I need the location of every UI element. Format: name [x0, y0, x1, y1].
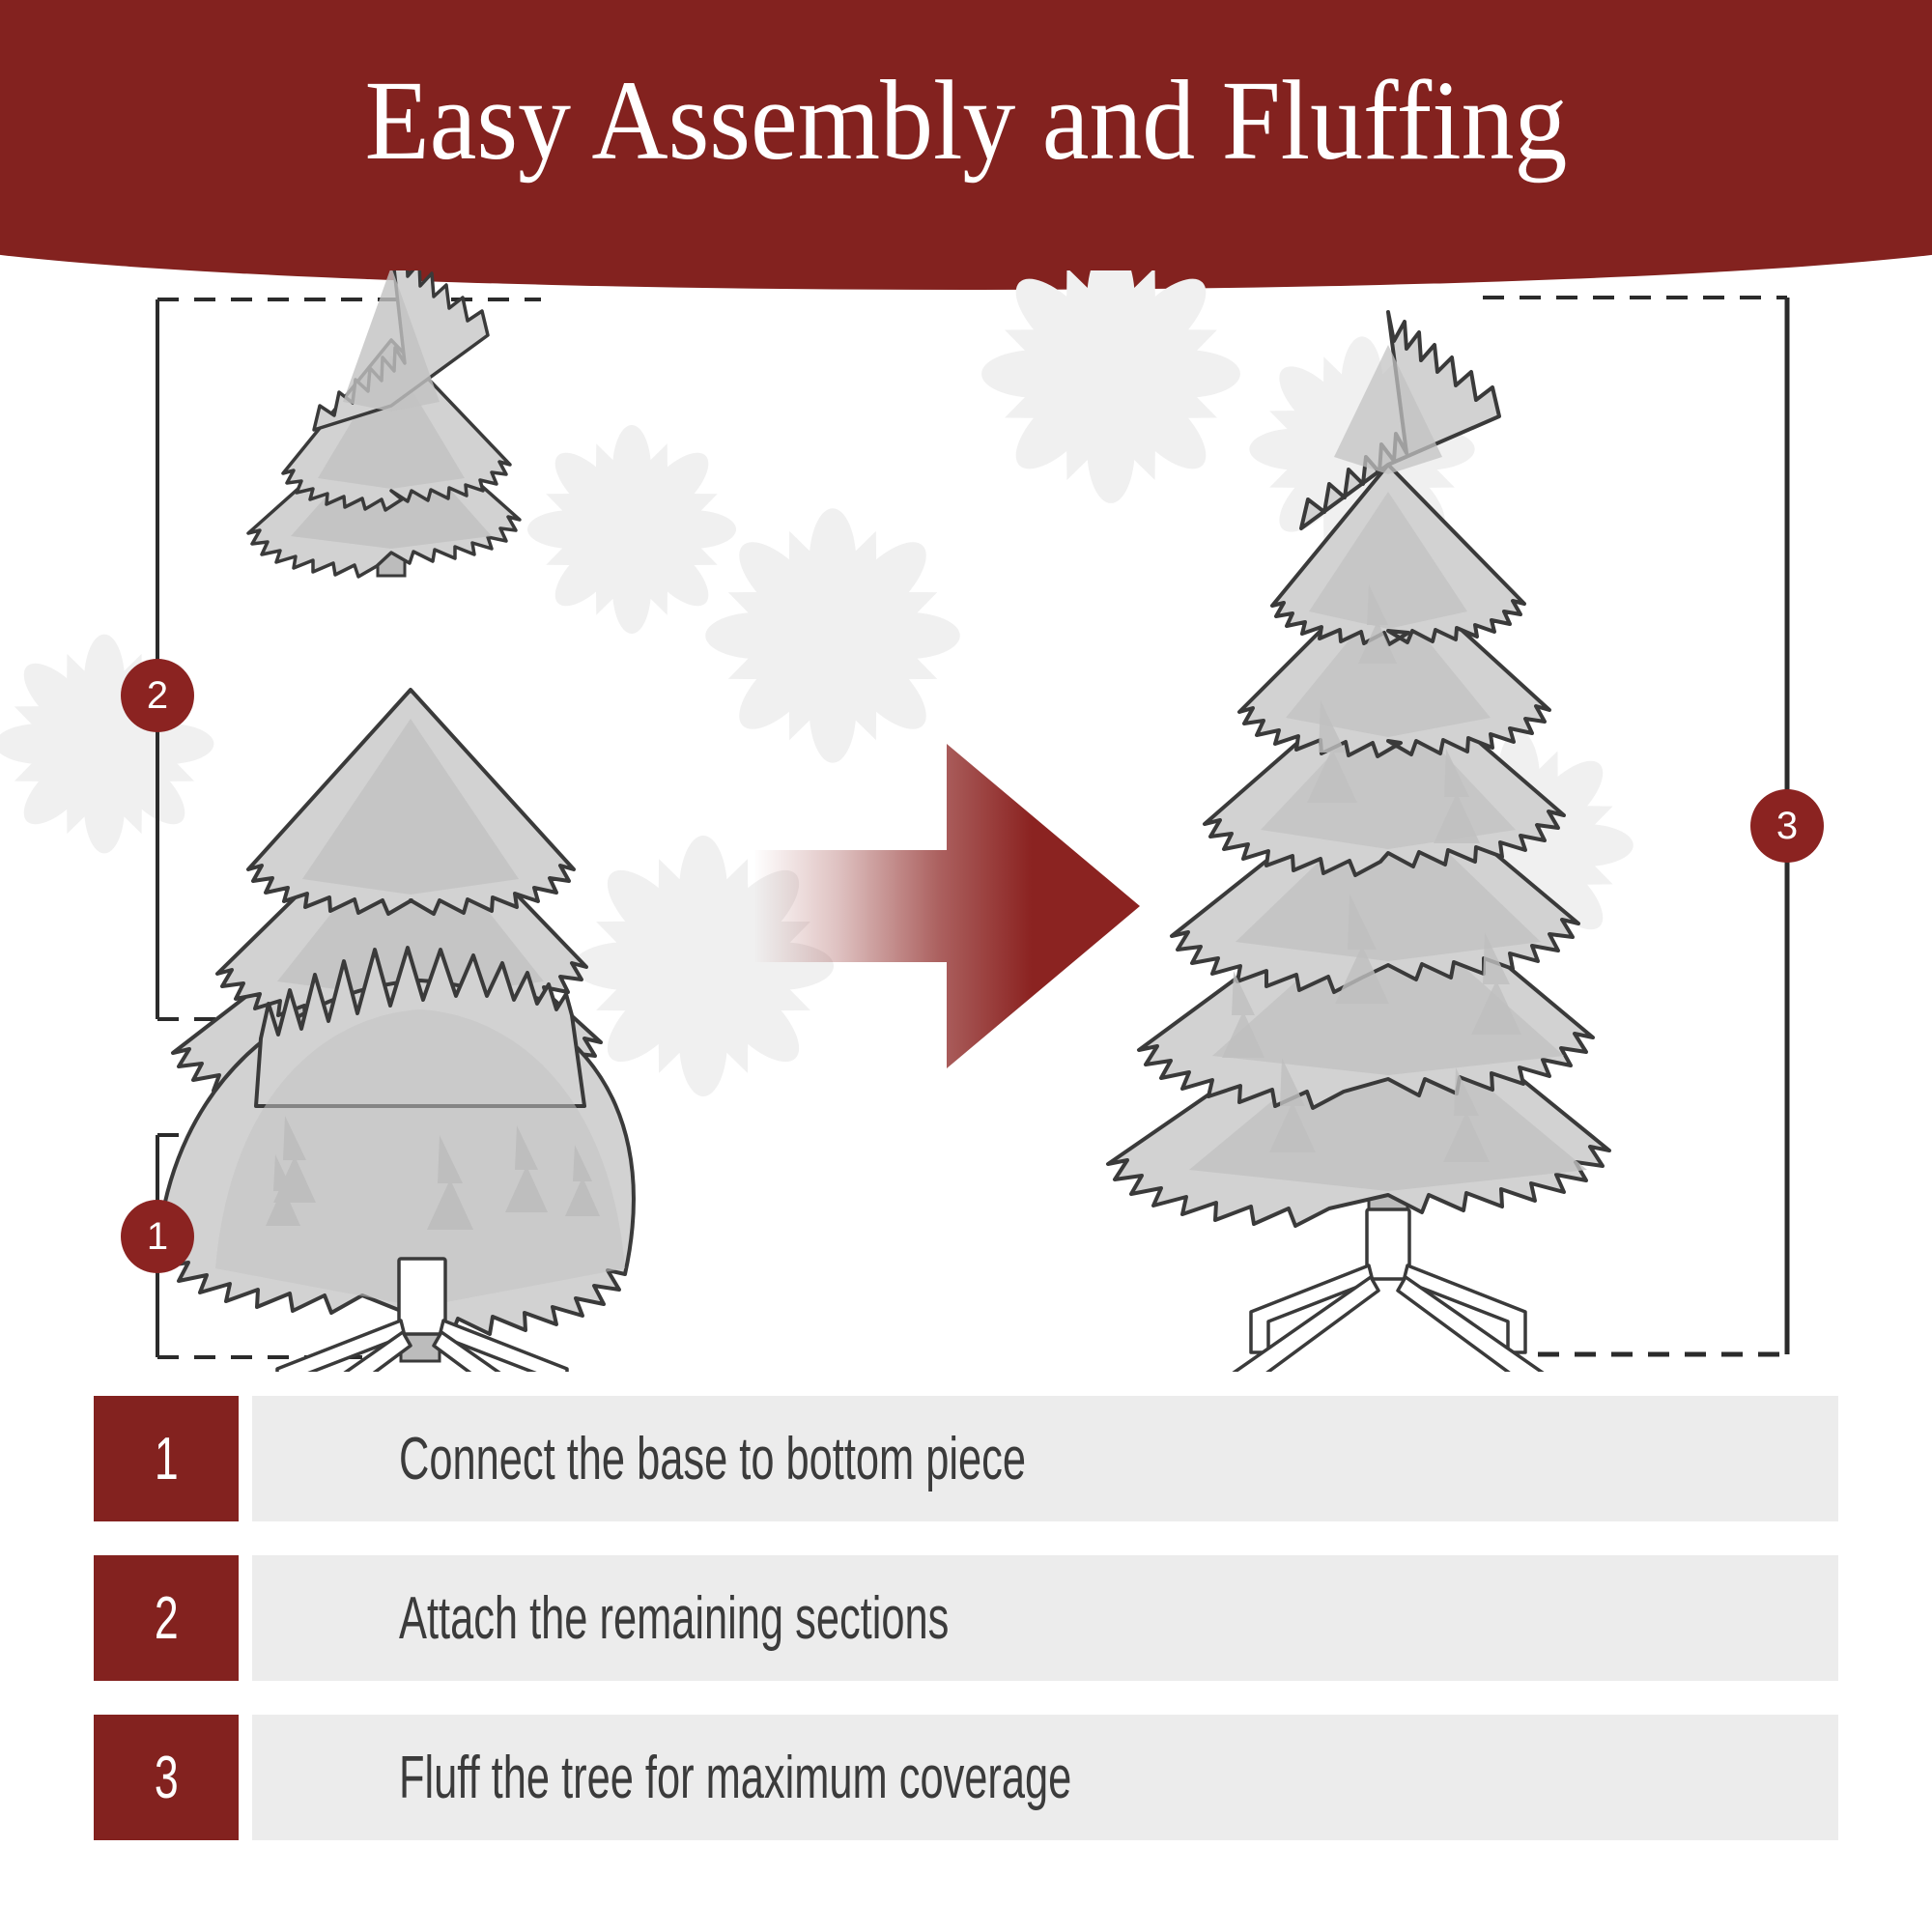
badge-label-2: 2 [147, 674, 168, 717]
right-arrow-icon [753, 744, 1140, 1068]
page-title: Easy Assembly and Fluffing [68, 0, 1864, 241]
step-number: 2 [155, 1584, 179, 1653]
step-number: 1 [155, 1425, 179, 1493]
step-text-bar: Connect the base to bottom piece [252, 1396, 1838, 1521]
badge-label-1: 1 [147, 1215, 168, 1258]
step-text-bar: Fluff the tree for maximum coverage [252, 1715, 1838, 1840]
snowflake-icon [981, 270, 1240, 503]
assembly-illustration: 2 1 3 [0, 270, 1932, 1372]
step-gap [239, 1555, 252, 1681]
tree-stand-right [1224, 1209, 1552, 1372]
step-text: Connect the base to bottom piece [399, 1425, 1026, 1493]
header-banner: Easy Assembly and Fluffing [0, 0, 1932, 290]
step-text: Attach the remaining sections [399, 1584, 949, 1653]
step-number: 3 [155, 1744, 179, 1812]
measurement-badge-1: 1 [121, 1200, 194, 1273]
step-gap [239, 1715, 252, 1840]
step-list: 1 Connect the base to bottom piece 2 Att… [0, 1381, 1932, 1922]
snowflake-icon [0, 635, 213, 854]
step-row: 3 Fluff the tree for maximum coverage [94, 1715, 1838, 1840]
snowflake-icon [527, 425, 736, 634]
snowflake-icon [705, 508, 960, 763]
step-number-box: 3 [94, 1715, 239, 1840]
measurement-badge-2: 2 [121, 659, 194, 732]
process-arrow [753, 744, 1140, 1068]
step-text-bar: Attach the remaining sections [252, 1555, 1838, 1681]
step-text: Fluff the tree for maximum coverage [399, 1744, 1071, 1812]
tree-section-top [248, 270, 520, 577]
step-gap [239, 1396, 252, 1521]
step-row: 1 Connect the base to bottom piece [94, 1396, 1838, 1521]
step-row: 2 Attach the remaining sections [94, 1555, 1838, 1681]
measurement-badge-3: 3 [1750, 789, 1824, 863]
badge-label-3: 3 [1776, 805, 1798, 847]
step-number-box: 1 [94, 1396, 239, 1521]
step-number-box: 2 [94, 1555, 239, 1681]
